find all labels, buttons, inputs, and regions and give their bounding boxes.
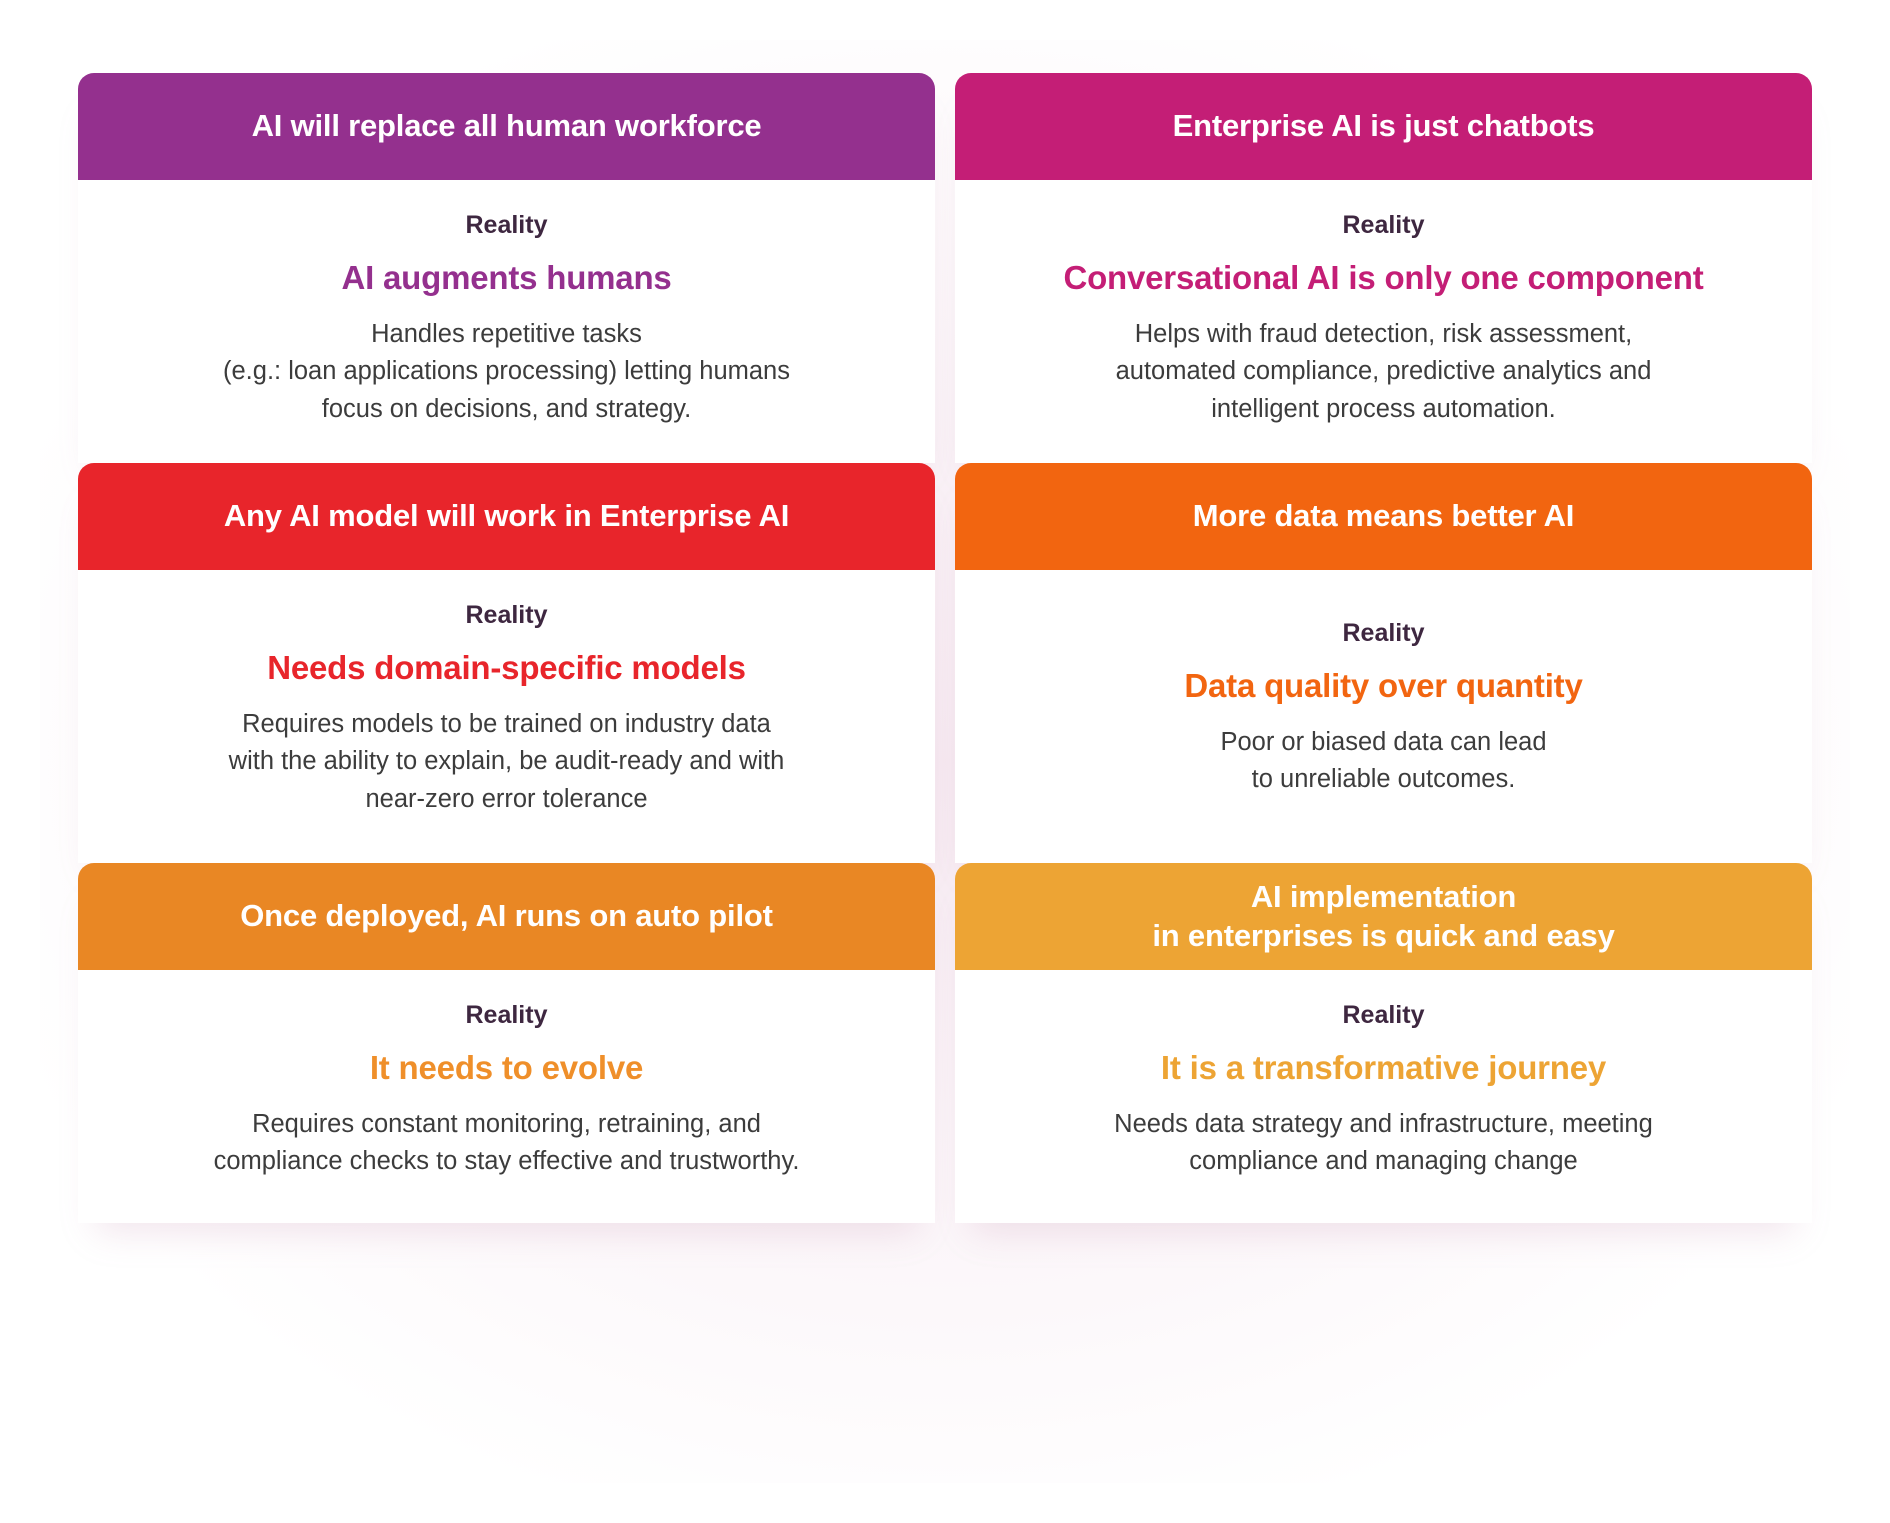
reality-statement: Needs domain-specific models: [124, 648, 889, 688]
reality-statement: It is a transformative journey: [1001, 1048, 1766, 1088]
card-body: Reality It is a transformative journey N…: [955, 970, 1812, 1207]
card-header-myth: Enterprise AI is just chatbots: [955, 73, 1812, 180]
reality-detail: Requires models to be trained on industr…: [124, 706, 889, 819]
detail-line: to unreliable outcomes.: [1252, 765, 1516, 793]
myth-card-auto-pilot: Once deployed, AI runs on auto pilot Rea…: [78, 863, 935, 1223]
reality-label: Reality: [1001, 210, 1766, 240]
myth-title: Enterprise AI is just chatbots: [1173, 107, 1595, 146]
detail-line: focus on decisions, and strategy.: [322, 395, 692, 423]
myth-card-any-model-works: Any AI model will work in Enterprise AI …: [78, 463, 935, 863]
reality-detail: Needs data strategy and infrastructure, …: [1001, 1106, 1766, 1181]
card-body: Reality Conversational AI is only one co…: [955, 180, 1812, 455]
myths-vs-reality-board: AI will replace all human workforce Real…: [0, 0, 1890, 1523]
myth-title: AI will replace all human workforce: [252, 107, 762, 146]
reality-label: Reality: [124, 210, 889, 240]
detail-line: intelligent process automation.: [1211, 395, 1555, 423]
detail-line: Needs data strategy and infrastructure, …: [1114, 1110, 1653, 1138]
card-grid: AI will replace all human workforce Real…: [78, 73, 1812, 1223]
detail-line: compliance checks to stay effective and …: [214, 1147, 800, 1175]
card-body: Reality Needs domain-specific models Req…: [78, 570, 935, 845]
reality-detail: Poor or biased data can lead to unreliab…: [1001, 724, 1766, 799]
reality-detail: Helps with fraud detection, risk assessm…: [1001, 316, 1766, 429]
reality-detail: Requires constant monitoring, retraining…: [124, 1106, 889, 1181]
card-body: Reality AI augments humans Handles repet…: [78, 180, 935, 455]
detail-line: near-zero error tolerance: [365, 785, 647, 813]
myth-card-quick-and-easy: AI implementation in enterprises is quic…: [955, 863, 1812, 1223]
card-body: Reality It needs to evolve Requires cons…: [78, 970, 935, 1207]
reality-statement: Data quality over quantity: [1001, 666, 1766, 706]
myth-title: AI implementation in enterprises is quic…: [1152, 878, 1614, 956]
myth-card-more-data-better: More data means better AI Reality Data q…: [955, 463, 1812, 863]
detail-line: Requires models to be trained on industr…: [242, 710, 771, 738]
detail-line: Handles repetitive tasks: [371, 320, 642, 348]
myth-title-line-2: in enterprises is quick and easy: [1152, 918, 1614, 953]
reality-statement: Conversational AI is only one component: [1001, 258, 1766, 298]
card-header-myth: Any AI model will work in Enterprise AI: [78, 463, 935, 570]
reality-label: Reality: [124, 600, 889, 630]
reality-statement: It needs to evolve: [124, 1048, 889, 1088]
card-header-myth: AI will replace all human workforce: [78, 73, 935, 180]
myth-title-line-1: AI implementation: [1251, 879, 1516, 914]
detail-line: Poor or biased data can lead: [1220, 728, 1546, 756]
detail-line: with the ability to explain, be audit-re…: [229, 747, 785, 775]
detail-line: (e.g.: loan applications processing) let…: [223, 357, 790, 385]
card-body: Reality Data quality over quantity Poor …: [955, 570, 1812, 825]
detail-line: compliance and managing change: [1189, 1147, 1577, 1175]
card-header-myth: AI implementation in enterprises is quic…: [955, 863, 1812, 970]
detail-line: automated compliance, predictive analyti…: [1116, 357, 1652, 385]
myth-title: Any AI model will work in Enterprise AI: [224, 497, 789, 536]
myth-title: Once deployed, AI runs on auto pilot: [240, 897, 772, 936]
reality-statement: AI augments humans: [124, 258, 889, 298]
reality-label: Reality: [1001, 1000, 1766, 1030]
detail-line: Requires constant monitoring, retraining…: [252, 1110, 761, 1138]
myth-card-ai-replaces-workforce: AI will replace all human workforce Real…: [78, 73, 935, 463]
myth-title: More data means better AI: [1193, 497, 1574, 536]
reality-label: Reality: [124, 1000, 889, 1030]
card-header-myth: Once deployed, AI runs on auto pilot: [78, 863, 935, 970]
card-header-myth: More data means better AI: [955, 463, 1812, 570]
reality-label: Reality: [1001, 618, 1766, 648]
myth-card-enterprise-ai-chatbots: Enterprise AI is just chatbots Reality C…: [955, 73, 1812, 463]
detail-line: Helps with fraud detection, risk assessm…: [1135, 320, 1632, 348]
reality-detail: Handles repetitive tasks (e.g.: loan app…: [124, 316, 889, 429]
